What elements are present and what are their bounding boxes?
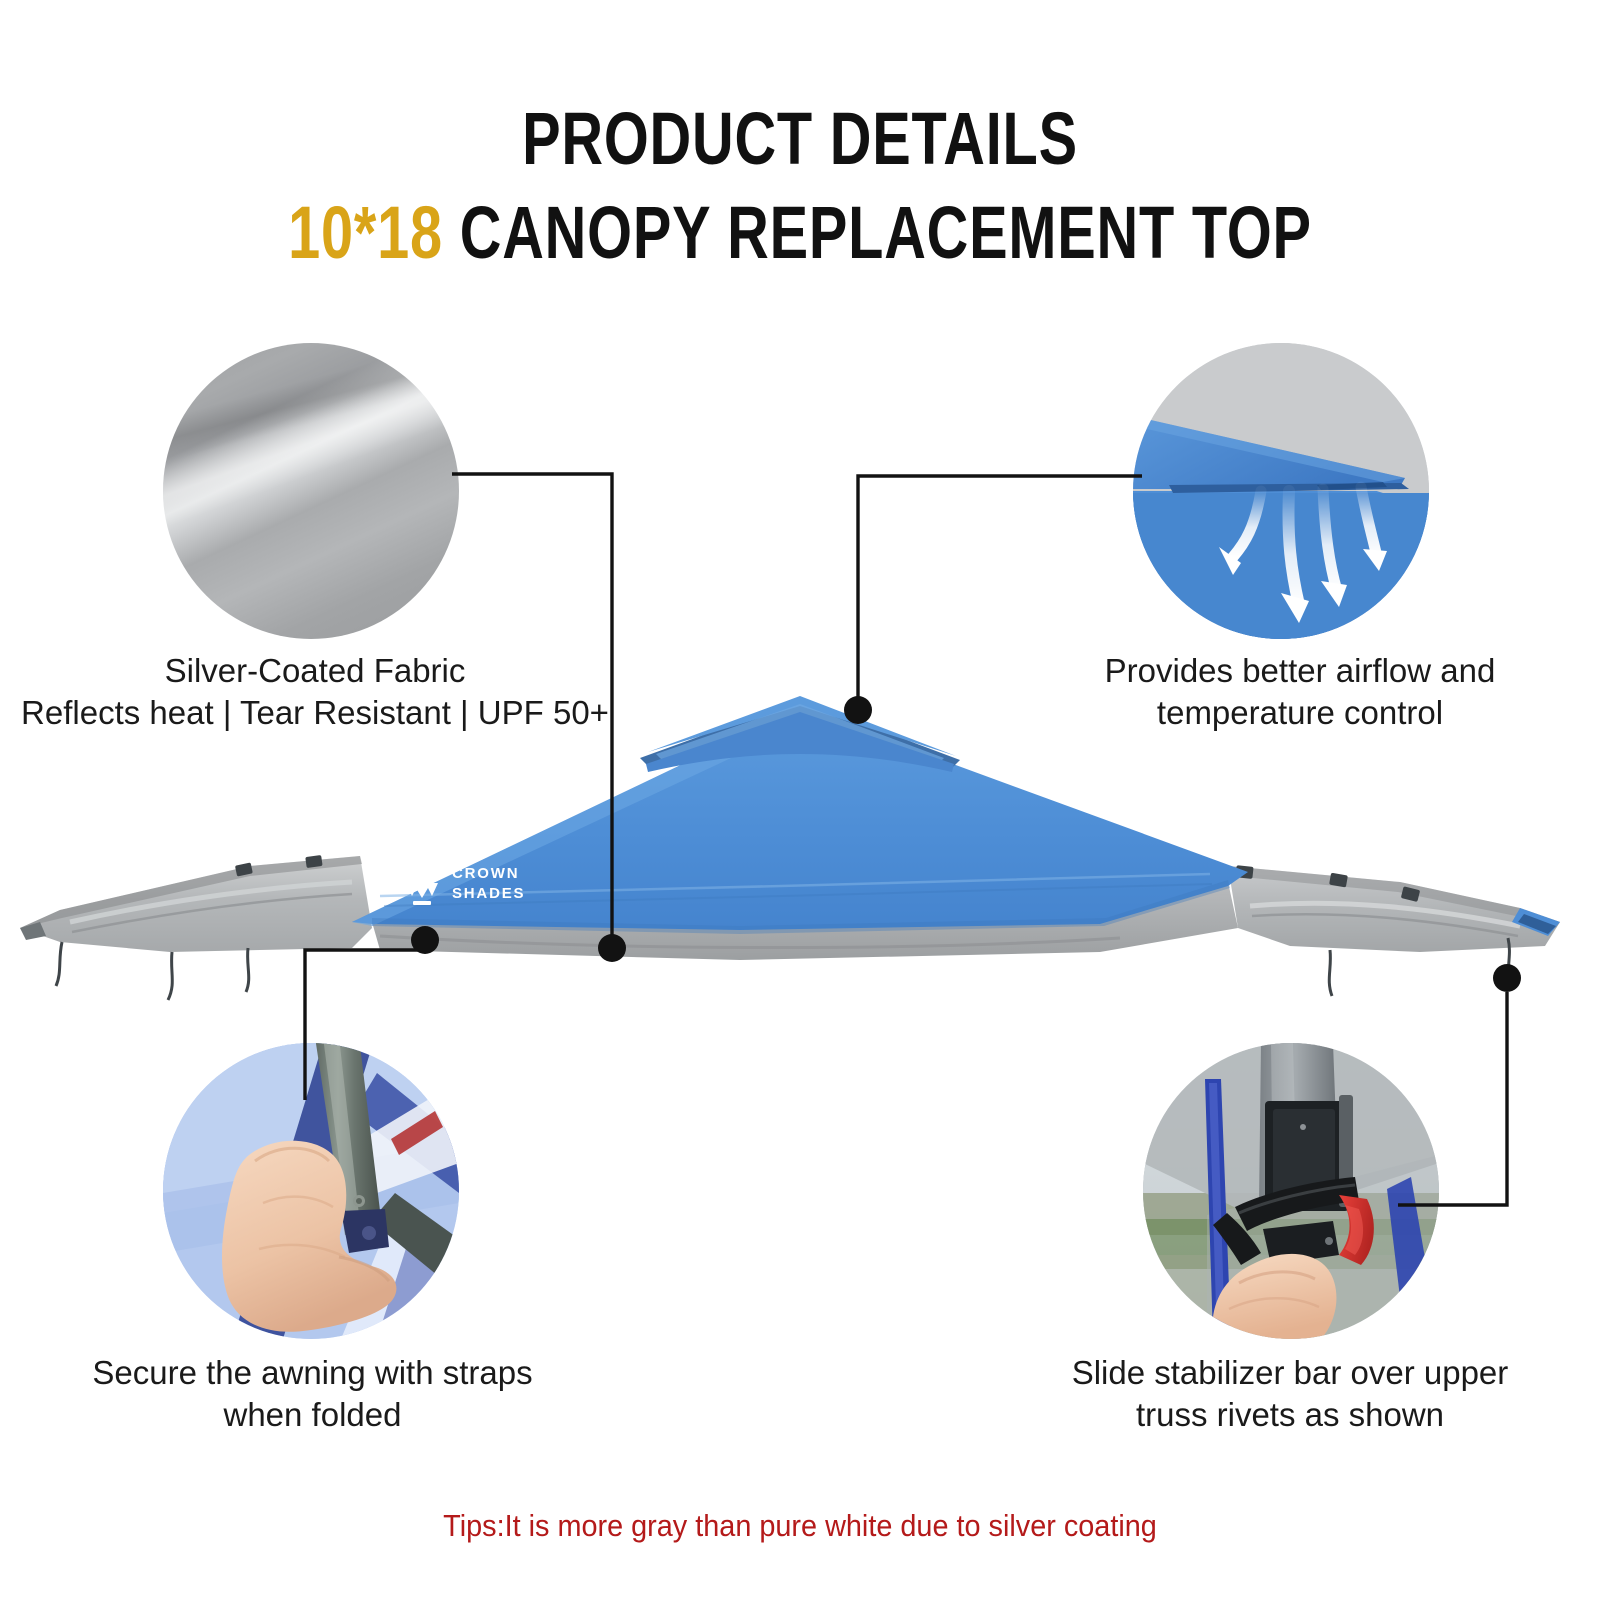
product-details-infographic: PRODUCT DETAILS 10*18 CANOPY REPLACEMENT… [0, 0, 1600, 1600]
hand-grip-pole-photo [163, 1043, 459, 1339]
caption-line-1: Slide stabilizer bar over upper [1010, 1352, 1570, 1394]
caption-line-1: Silver-Coated Fabric [10, 650, 620, 692]
caption-line-2: Reflects heat | Tear Resistant | UPF 50+ [10, 692, 620, 734]
caption-line-1: Provides better airflow and [1020, 650, 1580, 692]
caption-vented-top-airflow: Provides better airflow and temperature … [1020, 650, 1580, 734]
caption-awning-straps: Secure the awning with straps when folde… [40, 1352, 585, 1436]
product-size-label: 10*18 [288, 191, 443, 274]
left-awning-wing [20, 855, 372, 1000]
feature-image-vented-top-airflow [1133, 343, 1429, 639]
right-awning-wing [1228, 865, 1560, 996]
caption-line-2: when folded [40, 1394, 585, 1436]
caption-line-1: Secure the awning with straps [40, 1352, 585, 1394]
caption-line-2: truss rivets as shown [1010, 1394, 1570, 1436]
page-title: PRODUCT DETAILS [176, 96, 1424, 181]
caption-line-2: temperature control [1020, 692, 1580, 734]
brand-name-line2: SHADES [452, 885, 525, 902]
caption-silver-coated-fabric: Silver-Coated Fabric Reflects heat | Tea… [10, 650, 620, 734]
product-type-label: CANOPY REPLACEMENT TOP [460, 191, 1312, 274]
feature-image-stabilizer-bar [1143, 1043, 1439, 1339]
page-subtitle: 10*18 CANOPY REPLACEMENT TOP [176, 190, 1424, 275]
airflow-illustration [1133, 343, 1429, 639]
silver-fabric-swatch [163, 343, 459, 639]
stabilizer-clip-photo [1143, 1043, 1439, 1339]
product-name-label [443, 191, 460, 274]
brand-name-line1: CROWN [452, 865, 519, 882]
feature-image-silver-coated-fabric [163, 343, 459, 639]
caption-stabilizer-bar: Slide stabilizer bar over upper truss ri… [1010, 1352, 1570, 1436]
feature-image-awning-straps [163, 1043, 459, 1339]
footer-tips-note: Tips:It is more gray than pure white due… [56, 1508, 1544, 1544]
